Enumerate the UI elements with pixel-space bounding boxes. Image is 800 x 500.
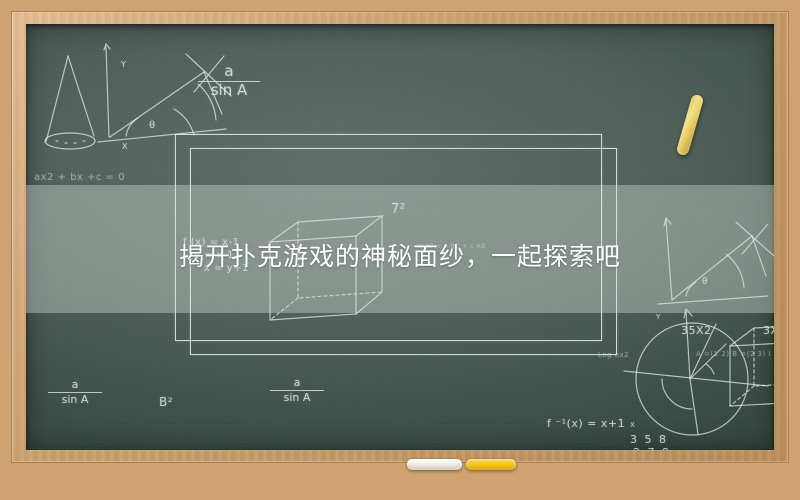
chalk-fraction-a-over-sina-bc2: a sin A: [270, 377, 324, 403]
chalk-label-x-axis-left: X: [122, 142, 128, 151]
chalk-subtraction-top: 3 5 8: [630, 433, 668, 446]
chalk-label-angle-theta-upper-right: θ: [702, 277, 708, 287]
chalk-label-angle-theta-left: θ: [149, 120, 156, 131]
chalk-fraction-a-over-sina-bc1: a sin A: [48, 379, 102, 405]
chalk-subtraction-middle: 2 7 9: [633, 446, 671, 450]
yellow-chalk-on-ledge[interactable]: [466, 459, 516, 470]
chalk-label-x-axis-right: X: [630, 421, 635, 429]
chalk-label-3x2: 3X2: [763, 324, 774, 337]
chalk-equation-inverse-function: f ⁻¹(x) = x+1: [547, 417, 625, 430]
banner-image: a sin A Y X θ ax2 + bx +c = 0 f (x) = x-…: [0, 0, 800, 500]
chalk-label-y-axis-left: Y: [121, 60, 126, 69]
chalk-equation-quadratic: ax2 + bx +c = 0: [34, 172, 125, 183]
chalk-label-y-axis-right: Y: [656, 313, 661, 321]
chalk-fraction-a-over-sina-left: a sin A: [198, 64, 260, 99]
chalk-label-matrix-row: A =(1 2) B =(2 3) I =(1 0): [696, 350, 774, 358]
page-title: 揭开扑克游戏的神秘面纱，一起探索吧: [26, 237, 774, 273]
chalk-label-35x2: 35X2: [681, 324, 712, 337]
chalk-label-b-squared: B²: [159, 395, 173, 409]
yellow-chalk-stick-on-board[interactable]: [676, 94, 705, 157]
chalkboard-surface: a sin A Y X θ ax2 + bx +c = 0 f (x) = x-…: [26, 24, 774, 450]
white-chalk-on-ledge[interactable]: [407, 459, 462, 470]
